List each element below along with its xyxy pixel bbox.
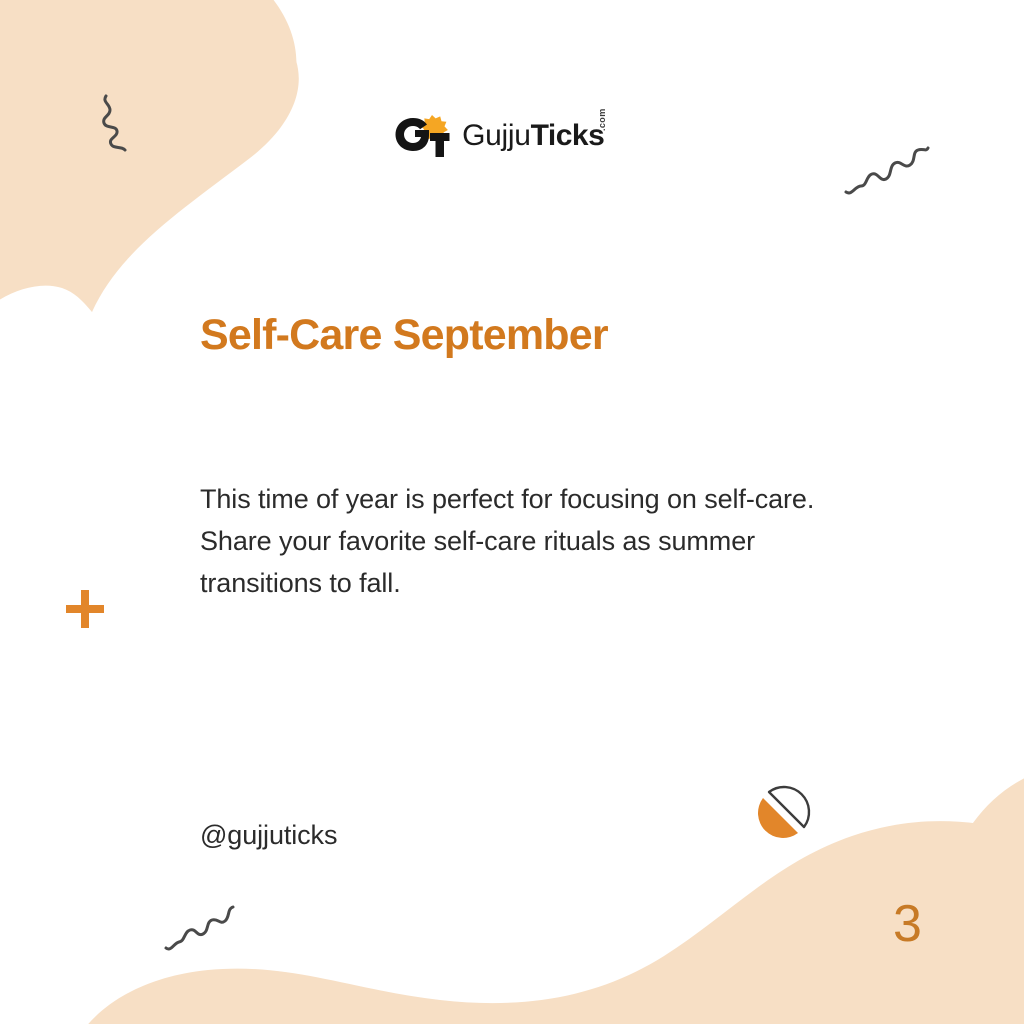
squiggle-icon (163, 900, 241, 956)
letter-t (430, 133, 450, 157)
split-circle-icon (757, 784, 819, 846)
wordmark-light-part: Gujju (462, 121, 531, 151)
brand-logo: Gujju Ticks .com (0, 108, 1024, 164)
social-handle: @gujjuticks (200, 820, 337, 851)
brand-wordmark: Gujju Ticks .com (462, 121, 630, 151)
page-title: Self-Care September (200, 312, 900, 359)
body-text: This time of year is perfect for focusin… (200, 478, 820, 604)
letter-g (396, 118, 430, 151)
blob-bottom-right-shape-2 (690, 800, 1024, 1024)
blob-top-left-shape (0, 0, 296, 330)
split-circle-outlined-half (769, 787, 809, 827)
social-post-canvas: Gujju Ticks .com Self-Care September Thi… (0, 0, 1024, 1024)
blob-bottom-right-shape-4 (60, 821, 1024, 1024)
plus-icon (66, 590, 104, 628)
blob-bottom-right-shape (668, 760, 1024, 1014)
wordmark-tld: .com (598, 108, 607, 131)
wordmark-bold-part: Ticks (531, 121, 605, 151)
split-circle-filled-half (758, 798, 798, 838)
gt-monogram-icon (394, 113, 452, 159)
page-number-badge: 3 (893, 898, 922, 950)
